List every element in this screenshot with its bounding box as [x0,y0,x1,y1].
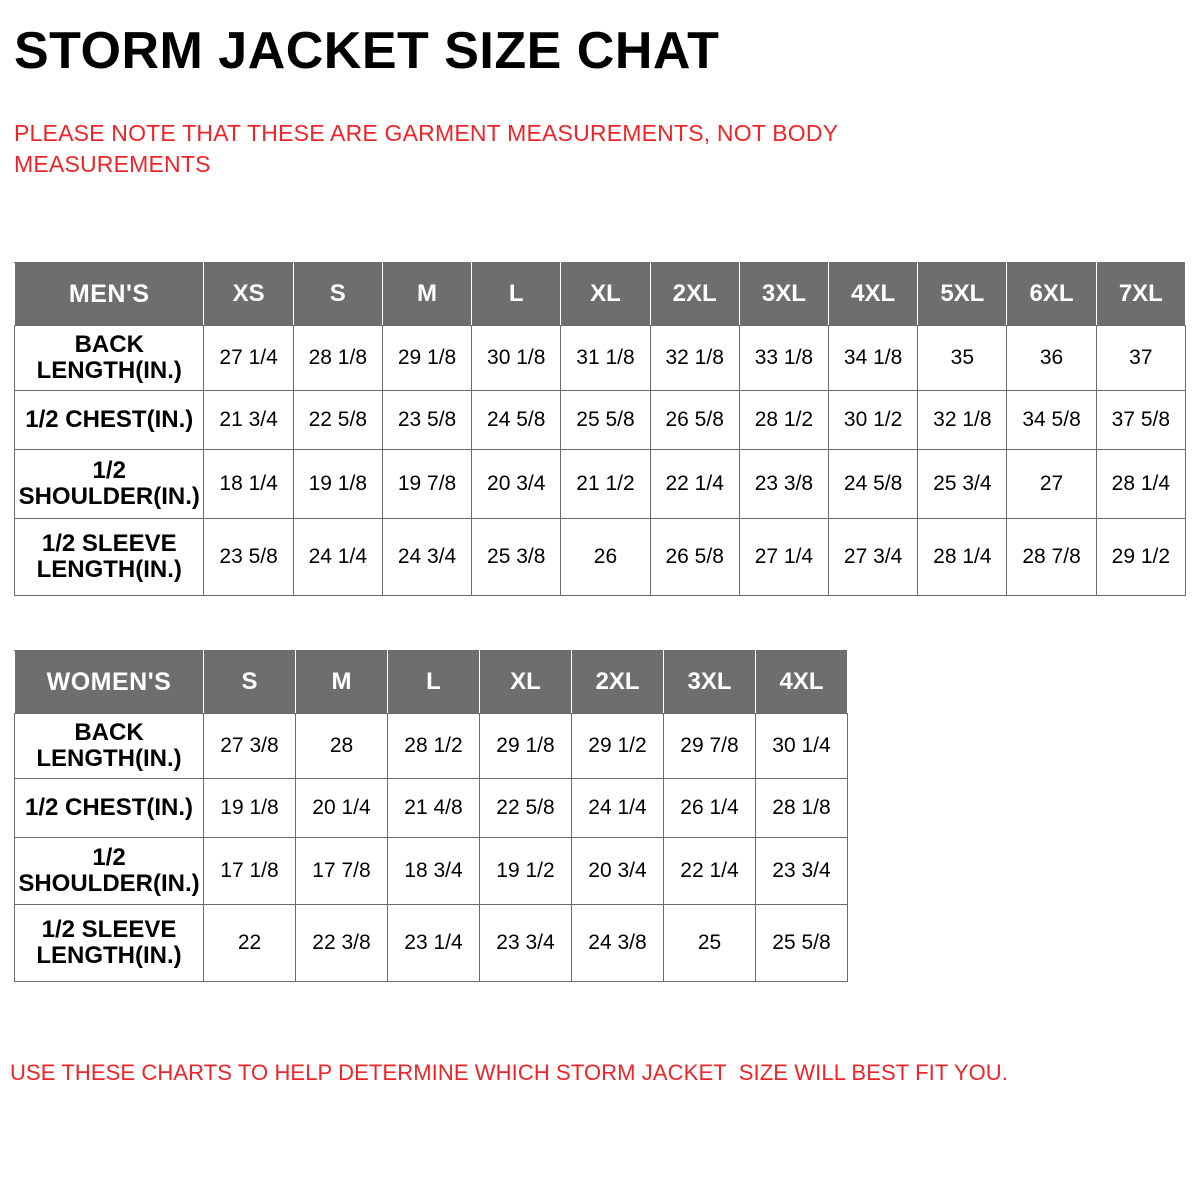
womens-size-table: WOMEN'SSMLXL2XL3XL4XL BACKLENGTH(IN.)27 … [14,650,848,982]
row-label-line: 1/2 SHOULDER(IN.) [17,845,201,898]
mens-header-row: MEN'SXSSMLXL2XL3XL4XL5XL6XL7XL [15,263,1186,326]
row-label-line: 1/2 SHOULDER(IN.) [17,458,201,511]
measurement-cell: 28 1/2 [739,391,828,450]
measurement-cell: 26 [561,519,650,596]
page-title: STORM JACKET SIZE CHAT [14,24,719,79]
measurement-cell: 22 5/8 [293,391,382,450]
womens-size-header-4xl: 4XL [756,651,848,714]
measurement-cell: 21 4/8 [388,779,480,838]
measurement-cell: 24 1/4 [293,519,382,596]
measurement-cell: 30 1/4 [756,714,848,779]
womens-size-header-m: M [296,651,388,714]
measurement-cell: 25 5/8 [756,905,848,982]
measurement-cell: 23 1/4 [388,905,480,982]
row-label-line: 1/2 CHEST(IN.) [17,795,201,821]
womens-row-label-2: 1/2 SHOULDER(IN.) [15,838,204,905]
row-label-line: LENGTH(IN.) [17,358,201,384]
measurement-cell: 22 3/8 [296,905,388,982]
row-label-line: 1/2 SLEEVE [17,531,201,557]
measurement-cell: 23 3/8 [739,450,828,519]
measurement-cell: 30 1/8 [472,326,561,391]
measurement-cell: 22 1/4 [650,450,739,519]
measurement-cell: 28 1/4 [918,519,1007,596]
measurement-cell: 24 5/8 [829,450,918,519]
measurement-cell: 28 7/8 [1007,519,1096,596]
measurement-cell: 29 1/8 [382,326,471,391]
measurement-cell: 28 1/8 [756,779,848,838]
measurement-cell: 19 1/8 [293,450,382,519]
mens-size-header-xl: XL [561,263,650,326]
mens-size-table: MEN'SXSSMLXL2XL3XL4XL5XL6XL7XL BACKLENGT… [14,262,1186,596]
measurement-cell: 26 1/4 [664,779,756,838]
measurement-cell: 19 7/8 [382,450,471,519]
table-row: 1/2 SHOULDER(IN.)17 1/817 7/818 3/419 1/… [15,838,848,905]
measurement-cell: 17 1/8 [204,838,296,905]
measurement-cell: 24 1/4 [572,779,664,838]
row-label-line: 1/2 CHEST(IN.) [17,407,201,433]
measurement-cell: 34 1/8 [829,326,918,391]
mens-size-header-2xl: 2XL [650,263,739,326]
table-row: 1/2 CHEST(IN.)19 1/820 1/421 4/822 5/824… [15,779,848,838]
measurement-cell: 31 1/8 [561,326,650,391]
table-row: 1/2 SHOULDER(IN.)18 1/419 1/819 7/820 3/… [15,450,1186,519]
mens-size-header-4xl: 4XL [829,263,918,326]
measurement-cell: 23 5/8 [382,391,471,450]
mens-size-header-s: S [293,263,382,326]
mens-size-header-7xl: 7XL [1096,263,1185,326]
measurement-cell: 21 1/2 [561,450,650,519]
measurement-cell: 25 5/8 [561,391,650,450]
footer-note: USE THESE CHARTS TO HELP DETERMINE WHICH… [10,1060,1160,1086]
womens-table-body: BACKLENGTH(IN.)27 3/82828 1/229 1/829 1/… [15,714,848,982]
measurement-cell: 18 3/4 [388,838,480,905]
measurement-cell: 23 3/4 [756,838,848,905]
measurement-cell: 25 [664,905,756,982]
measurement-cell: 19 1/8 [204,779,296,838]
table-row: 1/2 SLEEVELENGTH(IN.)23 5/824 1/424 3/42… [15,519,1186,596]
row-label-line: LENGTH(IN.) [17,746,201,772]
measurement-cell: 29 1/8 [480,714,572,779]
row-label-line: 1/2 SLEEVE [17,917,201,943]
measurement-cell: 20 3/4 [572,838,664,905]
table-row: 1/2 CHEST(IN.)21 3/422 5/823 5/824 5/825… [15,391,1186,450]
measurement-cell: 34 5/8 [1007,391,1096,450]
mens-table-header: MEN'SXSSMLXL2XL3XL4XL5XL6XL7XL [15,263,1186,326]
mens-size-header-m: M [382,263,471,326]
womens-row-label-0: BACKLENGTH(IN.) [15,714,204,779]
measurement-cell: 30 1/2 [829,391,918,450]
mens-size-header-5xl: 5XL [918,263,1007,326]
garment-measurement-notice: PLEASE NOTE THAT THESE ARE GARMENT MEASU… [14,118,974,180]
womens-table-header: WOMEN'SSMLXL2XL3XL4XL [15,651,848,714]
measurement-cell: 29 1/2 [572,714,664,779]
womens-row-label-3: 1/2 SLEEVELENGTH(IN.) [15,905,204,982]
measurement-cell: 29 1/2 [1096,519,1185,596]
mens-row-label-1: 1/2 CHEST(IN.) [15,391,204,450]
table-row: 1/2 SLEEVELENGTH(IN.)2222 3/823 1/423 3/… [15,905,848,982]
mens-row-label-3: 1/2 SLEEVELENGTH(IN.) [15,519,204,596]
row-label-line: BACK [17,720,201,746]
measurement-cell: 19 1/2 [480,838,572,905]
measurement-cell: 36 [1007,326,1096,391]
measurement-cell: 28 1/2 [388,714,480,779]
womens-corner-label: WOMEN'S [15,651,204,714]
womens-size-header-l: L [388,651,480,714]
measurement-cell: 27 1/4 [739,519,828,596]
measurement-cell: 21 3/4 [204,391,293,450]
measurement-cell: 27 3/4 [829,519,918,596]
measurement-cell: 35 [918,326,1007,391]
size-chart-page: STORM JACKET SIZE CHAT PLEASE NOTE THAT … [0,0,1200,1200]
measurement-cell: 29 7/8 [664,714,756,779]
measurement-cell: 22 1/4 [664,838,756,905]
mens-size-header-6xl: 6XL [1007,263,1096,326]
measurement-cell: 26 5/8 [650,391,739,450]
measurement-cell: 37 5/8 [1096,391,1185,450]
measurement-cell: 24 3/8 [572,905,664,982]
measurement-cell: 25 3/8 [472,519,561,596]
table-row: BACKLENGTH(IN.)27 1/428 1/829 1/830 1/83… [15,326,1186,391]
measurement-cell: 27 1/4 [204,326,293,391]
measurement-cell: 25 3/4 [918,450,1007,519]
measurement-cell: 26 5/8 [650,519,739,596]
measurement-cell: 28 1/4 [1096,450,1185,519]
mens-size-header-l: L [472,263,561,326]
measurement-cell: 24 5/8 [472,391,561,450]
mens-size-header-xs: XS [204,263,293,326]
measurement-cell: 17 7/8 [296,838,388,905]
womens-size-header-2xl: 2XL [572,651,664,714]
womens-header-row: WOMEN'SSMLXL2XL3XL4XL [15,651,848,714]
womens-size-header-3xl: 3XL [664,651,756,714]
row-label-line: LENGTH(IN.) [17,557,201,583]
measurement-cell: 37 [1096,326,1185,391]
womens-size-header-s: S [204,651,296,714]
measurement-cell: 23 5/8 [204,519,293,596]
measurement-cell: 20 3/4 [472,450,561,519]
measurement-cell: 20 1/4 [296,779,388,838]
measurement-cell: 23 3/4 [480,905,572,982]
mens-row-label-2: 1/2 SHOULDER(IN.) [15,450,204,519]
measurement-cell: 28 1/8 [293,326,382,391]
measurement-cell: 27 [1007,450,1096,519]
measurement-cell: 33 1/8 [739,326,828,391]
row-label-line: BACK [17,332,201,358]
measurement-cell: 18 1/4 [204,450,293,519]
mens-row-label-0: BACKLENGTH(IN.) [15,326,204,391]
measurement-cell: 24 3/4 [382,519,471,596]
womens-row-label-1: 1/2 CHEST(IN.) [15,779,204,838]
mens-corner-label: MEN'S [15,263,204,326]
measurement-cell: 22 5/8 [480,779,572,838]
measurement-cell: 32 1/8 [918,391,1007,450]
table-row: BACKLENGTH(IN.)27 3/82828 1/229 1/829 1/… [15,714,848,779]
measurement-cell: 27 3/8 [204,714,296,779]
row-label-line: LENGTH(IN.) [17,943,201,969]
mens-size-header-3xl: 3XL [739,263,828,326]
measurement-cell: 22 [204,905,296,982]
mens-table-body: BACKLENGTH(IN.)27 1/428 1/829 1/830 1/83… [15,326,1186,596]
measurement-cell: 32 1/8 [650,326,739,391]
measurement-cell: 28 [296,714,388,779]
womens-size-header-xl: XL [480,651,572,714]
